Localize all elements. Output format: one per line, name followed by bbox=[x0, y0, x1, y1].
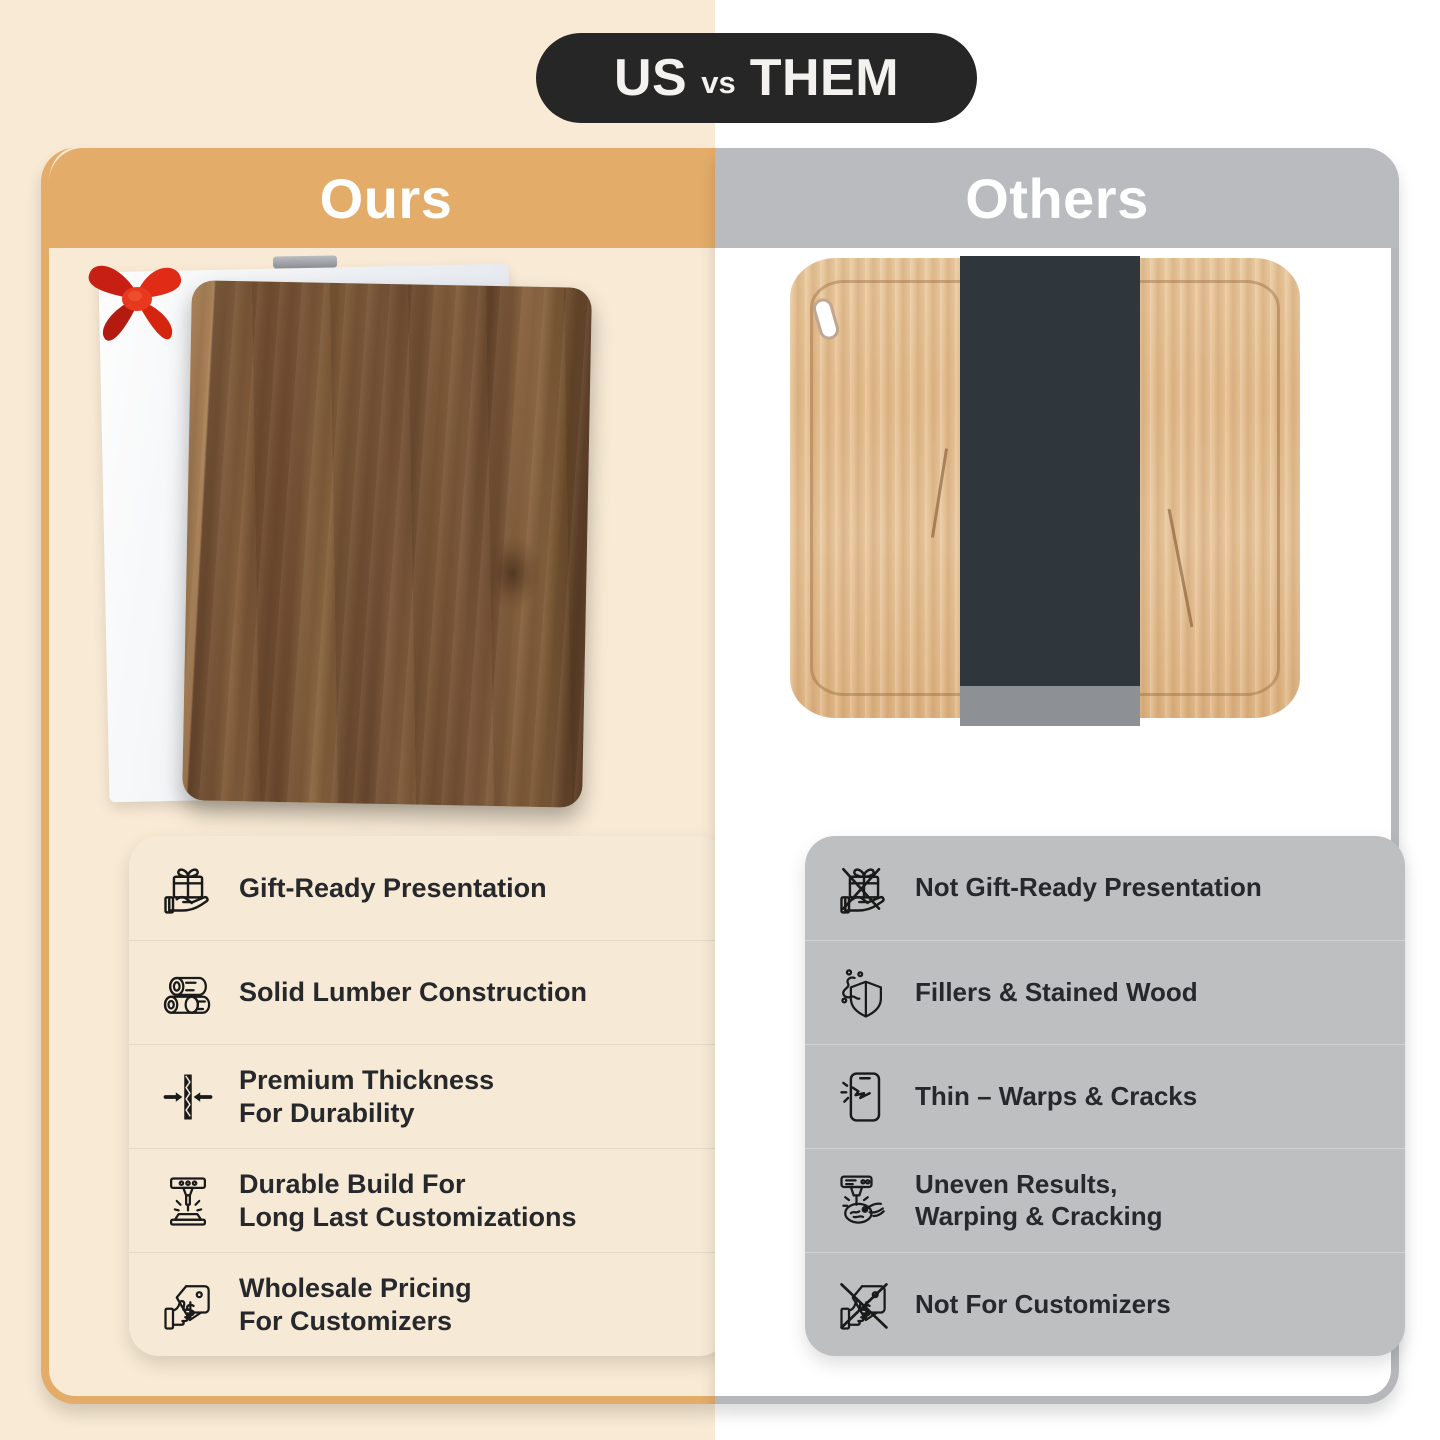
feature-row[interactable]: Solid Lumber Construction bbox=[129, 940, 729, 1044]
feature-label: Fillers & Stained Wood bbox=[915, 977, 1198, 1009]
cracked-thin-board-icon bbox=[831, 1064, 897, 1130]
feature-label: Not Gift-Ready Presentation bbox=[915, 872, 1262, 904]
feature-row[interactable]: Premium Thickness For Durability bbox=[129, 1044, 729, 1148]
gift-box-clip bbox=[273, 255, 337, 268]
gift-in-hand-icon bbox=[155, 855, 221, 921]
others-product-image bbox=[715, 248, 1391, 828]
feature-label: Premium Thickness For Durability bbox=[239, 1064, 494, 1130]
others-feature-list: Not Gift-Ready Presentation Fillers & St… bbox=[805, 836, 1405, 1356]
red-ribbon-bow-icon bbox=[79, 253, 199, 353]
stacked-logs-icon bbox=[155, 960, 221, 1026]
feature-label: Thin – Warps & Cracks bbox=[915, 1081, 1197, 1113]
title-badge: US vs THEM bbox=[536, 33, 977, 123]
laser-uneven-burn-icon bbox=[831, 1168, 897, 1234]
feature-row[interactable]: Not Gift-Ready Presentation bbox=[805, 836, 1405, 940]
feature-row[interactable]: Fillers & Stained Wood bbox=[805, 940, 1405, 1044]
ours-feature-list: Gift-Ready Presentation bbox=[129, 836, 729, 1356]
feature-row[interactable]: Not For Customizers bbox=[805, 1252, 1405, 1356]
feature-row[interactable]: Durable Build For Long Last Customizatio… bbox=[129, 1148, 729, 1252]
ours-product-image bbox=[49, 248, 715, 828]
feature-row[interactable]: Thin – Warps & Cracks bbox=[805, 1044, 1405, 1148]
price-tag-thumb-crossed-out-icon bbox=[831, 1272, 897, 1338]
thickness-arrows-icon bbox=[155, 1064, 221, 1130]
gift-in-hand-crossed-out-icon bbox=[831, 855, 897, 921]
laser-engraver-icon bbox=[155, 1168, 221, 1234]
feature-label: Uneven Results, Warping & Cracking bbox=[915, 1169, 1163, 1232]
ours-panel-body: Ours bbox=[41, 148, 715, 1404]
title-us: US bbox=[614, 52, 687, 104]
feature-row[interactable]: Gift-Ready Presentation bbox=[129, 836, 729, 940]
others-panel-body: Others bbox=[715, 148, 1399, 1404]
feature-label: Not For Customizers bbox=[915, 1289, 1171, 1321]
feature-row[interactable]: Wholesale Pricing For Customizers bbox=[129, 1252, 729, 1356]
others-panel: Others bbox=[715, 148, 1399, 1404]
price-tag-thumb-icon bbox=[155, 1272, 221, 1338]
ours-header: Ours bbox=[49, 148, 723, 248]
dark-band-foot bbox=[960, 686, 1140, 726]
walnut-board-image bbox=[182, 280, 592, 808]
dark-overlay-band bbox=[960, 256, 1140, 686]
feature-row[interactable]: Uneven Results, Warping & Cracking bbox=[805, 1148, 1405, 1252]
feature-label: Wholesale Pricing For Customizers bbox=[239, 1272, 472, 1338]
walnut-knot bbox=[484, 536, 541, 611]
title-them: THEM bbox=[750, 52, 899, 104]
ours-panel: Ours bbox=[41, 148, 715, 1404]
feature-label: Solid Lumber Construction bbox=[239, 976, 587, 1009]
others-header: Others bbox=[715, 148, 1399, 248]
title-vs: vs bbox=[701, 67, 735, 98]
feature-label: Gift-Ready Presentation bbox=[239, 872, 547, 905]
feature-label: Durable Build For Long Last Customizatio… bbox=[239, 1168, 577, 1234]
shield-splatter-icon bbox=[831, 960, 897, 1026]
